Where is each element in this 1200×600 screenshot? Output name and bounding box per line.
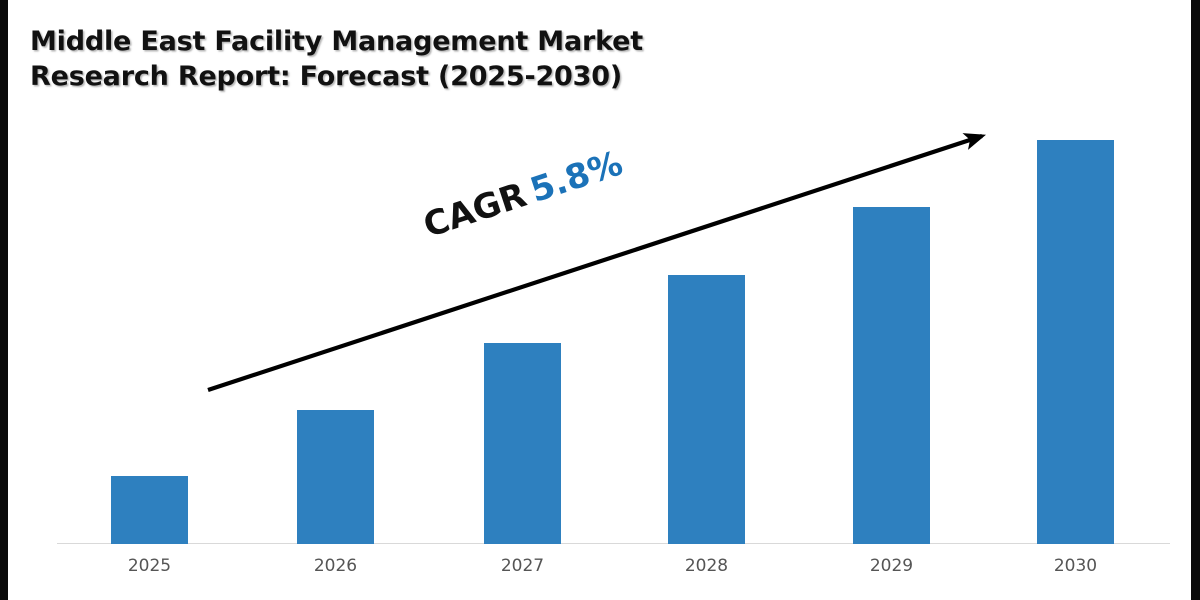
- bar-2030: [1037, 140, 1114, 544]
- tick-label-2029: 2029: [853, 556, 930, 576]
- tick-label-2027: 2027: [484, 556, 561, 576]
- tick-label-2025: 2025: [111, 556, 188, 576]
- bar-2026: [297, 410, 374, 544]
- bar-2029: [853, 207, 930, 544]
- tick-label-2030: 2030: [1037, 556, 1114, 576]
- bar-2028: [668, 275, 745, 544]
- chart-canvas: Middle East Facility Management Market R…: [0, 0, 1200, 600]
- bar-2027: [484, 343, 561, 544]
- tick-label-2026: 2026: [297, 556, 374, 576]
- plot-area: 202520262027202820292030: [0, 0, 1200, 600]
- tick-label-2028: 2028: [668, 556, 745, 576]
- bar-2025: [111, 476, 188, 544]
- x-axis-line: [57, 543, 1170, 544]
